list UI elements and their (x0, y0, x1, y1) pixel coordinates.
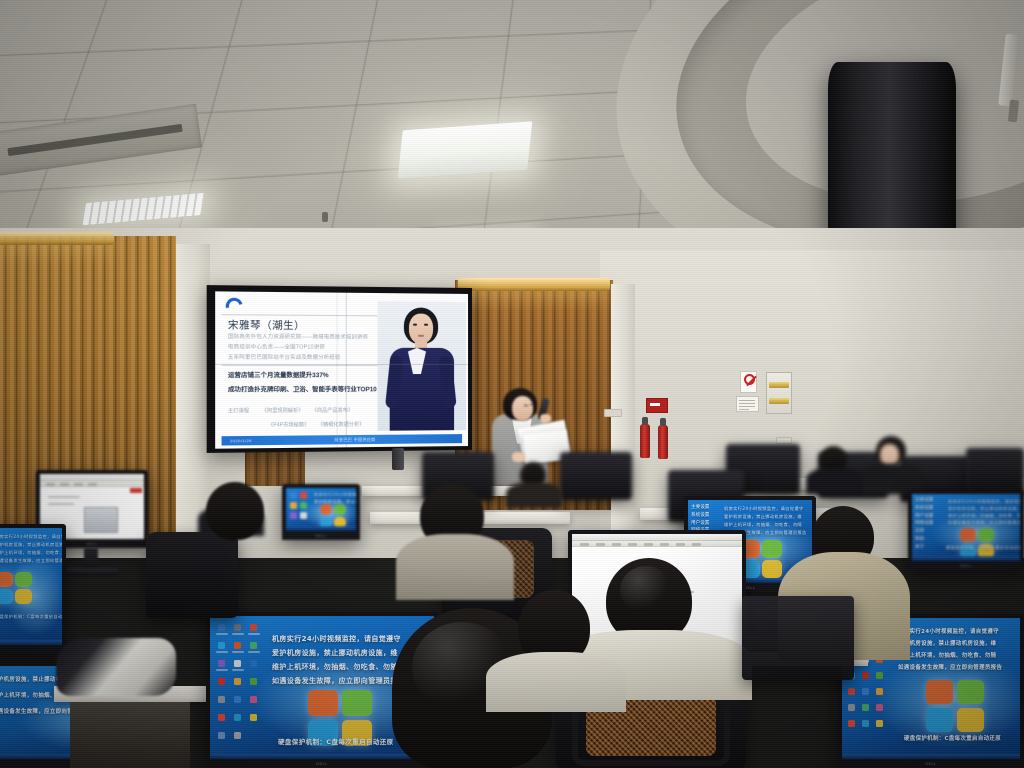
attendee-shoulders (806, 468, 862, 494)
side-menu-item: 网络设置 (915, 520, 933, 528)
side-menu-item: 系统设置 (915, 505, 933, 513)
desktop-notice-line: 爱护机房设施，禁止挪动机房设施，维 (724, 514, 802, 521)
slide-course: 《精细化数据分析》 (318, 421, 364, 428)
ceiling-sprinkler (322, 212, 328, 222)
gold-plaque (766, 372, 792, 414)
slide-footer-date: 2020/1/29 (230, 438, 252, 443)
side-menu-item: 主要设置 (691, 504, 709, 512)
ceiling-light-panel-1 (398, 121, 533, 179)
desktop-notice-line: 机房实行24小时视频监控，请自觉遵守 (948, 499, 1020, 506)
slide-course: 《P4P市场秘籍》 (268, 421, 309, 428)
slide-bullet: 五年阿里巴巴国际站平台实战及数据分析经验 (228, 354, 341, 361)
desktop-notice-line: 机房实行24小时视频监控，请自觉遵守 (0, 534, 62, 541)
desktop-notice-line: 爱护机房设施，禁止挪动机房设施，维 (898, 640, 996, 648)
desktop-notice-line: 爱护机房设施，禁止挪动机房设施，维 (948, 506, 1020, 513)
hair-highlight (620, 566, 672, 614)
win7-desktop: 机房实行24小时视频监控，请自觉遵守 爱护机房设施，禁止挪动机房设施，维 (286, 488, 356, 531)
monitor-brand-label: DELL (315, 533, 327, 538)
presentation-slide: 宋雅琴（潮生） 国际商务外包人力资源研究院——跨境电商技术培训讲师 电商培训中心… (215, 291, 468, 448)
desktop-notice-line: 如遇设备发生故障，应立即向管理员报告 (0, 558, 62, 565)
desktop-notice-line: 机房实行24小时视频监控，请自觉遵守 (898, 628, 999, 636)
monitor-brand-label: DELL (960, 563, 972, 568)
monitor-brand-label: DELL (86, 541, 98, 546)
side-menu-item: 主要设置 (915, 497, 933, 505)
slide-bullet: 国际商务外包人力资源研究院——跨境电商技术培训讲师 (228, 333, 368, 341)
desktop-notice-line: 机房实行24小时视频监控，请自觉遵守 (272, 634, 401, 645)
desktop-notice-line: 爱护机房设施，禁止挪动机房设施，维 (314, 499, 356, 506)
desktop-notice-line: 机房实行24小时视频监控，请自觉遵守 (314, 492, 356, 499)
attendee-shoulders (506, 482, 562, 508)
slide-courses-label: 主打课程 (228, 407, 249, 414)
attendee-shoulders (396, 534, 514, 600)
screen-mount-bracket (392, 448, 404, 470)
slide-bullet: 电商培训中心负责——全国TOP10讲师 (228, 343, 325, 350)
presenter-face (512, 396, 533, 421)
desktop-notice-line: 如遇设备发生故障，应立即向管理员报告 (948, 520, 1020, 527)
attendee-head (206, 482, 264, 540)
presenter-hand (540, 414, 551, 423)
wall-notice-board (736, 396, 759, 412)
desktop-notice-line: 维护上机环境，勿抽烟、勿吃食、勿随 (948, 513, 1020, 520)
win7-desktop: 机房实行24小时视频监控，请自觉遵守 爱护机房设施，禁止挪动机房设施，维 维护上… (0, 528, 62, 645)
attendee-shoulders (486, 652, 626, 712)
no-smoking-sign (740, 371, 757, 393)
desktop-bottom-notice: 硬盘保护机制：C盘每次重启自动还原 (904, 735, 1001, 743)
desktop-bottom-notice: 硬盘保护机制：C盘每次重启自动还原 (946, 545, 1020, 552)
draped-jacket (56, 638, 176, 696)
slide-title: 宋雅琴（潮生） (228, 316, 305, 332)
monitor-brand-label: DELL (316, 761, 328, 766)
side-menu-item: 还原 (915, 528, 933, 536)
desktop-notice-line: 爱护机房设施，禁止挪动机房设施，维 (0, 542, 62, 549)
side-menu-item: 用户设置 (691, 520, 709, 528)
desktop-notice-line: 如遇设备发生故障，应立即向管理员报告 (898, 664, 1002, 672)
side-menu-item: 用户设置 (915, 513, 933, 521)
monitor-base (66, 568, 118, 576)
cove-light-strip (0, 232, 114, 245)
desk-cabinet (70, 702, 190, 768)
fire-extinguisher (640, 424, 650, 458)
slide-footer: 2020/1/29 阿里巴巴 中国供应商 (222, 434, 463, 445)
monitor: 机房实行24小时视频监控，请自觉遵守 爱护机房设施，禁止挪动机房设施，维 DEL… (282, 484, 360, 540)
desktop-bottom-notice: 硬盘保护机制：C盘每次重启自动还原 (278, 737, 394, 747)
projection-screen: 宋雅琴（潮生） 国际商务外包人力资源研究院——跨境电商技术培训讲师 电商培训中心… (207, 285, 472, 453)
fire-extinguisher-sign (646, 398, 668, 413)
monitor-rear (742, 596, 854, 680)
side-menu-item: 系统设置 (691, 512, 709, 520)
slide-highlight: 运营店铺三个月流量数据提升337% (228, 370, 329, 379)
presenter-hand (512, 452, 525, 462)
attendee-face (880, 444, 899, 466)
side-menu-item: 帮助 (915, 536, 933, 544)
office-chair (146, 532, 238, 618)
desktop-notice-line: 维护上机环境，勿抽烟、勿吃食、勿随 (898, 652, 996, 660)
wall-power-outlet (604, 409, 622, 417)
classroom-photo: 宋雅琴（潮生） 国际商务外包人力资源研究院——跨境电商技术培训讲师 电商培训中心… (0, 0, 1024, 768)
fire-extinguisher (658, 425, 668, 459)
desktop-notice-line: 维护上机环境，勿抽烟、勿吃食、勿随 (0, 550, 62, 557)
monitor-rear (560, 452, 632, 500)
slide-course: 《阿里规则解析》 (262, 407, 304, 414)
desktop-notice-line: 爱护机房设施，禁止挪动机房设施，维 (272, 648, 398, 659)
desktop-notice-line: 维护上机环境，勿抽烟、勿吃食、勿随 (272, 662, 398, 673)
monitor: 机房实行24小时视频监控，请自觉遵守 爱护机房设施，禁止挪动机房设施，维 维护上… (0, 524, 66, 654)
cove-light-strip (458, 278, 610, 291)
desktop-bottom-notice: 硬盘保护机制：C盘每次重启自动还原 (0, 614, 62, 621)
desktop-side-menu: 主要设置 系统设置 用户设置 网络设置 还原 帮助 关于 (915, 497, 933, 552)
desktop-notice-line: 维护上机环境，勿抽烟、勿吃食、勿随 (724, 522, 802, 529)
win7-desktop: 主要设置 系统设置 用户设置 网络设置 还原 帮助 关于 机房实行24小时视频监… (912, 494, 1020, 561)
speaker-portrait-photo (377, 301, 466, 431)
desktop-notice-line: 如遇设备发生故障，应立即向管理员报告 (272, 676, 405, 687)
desktop-notice-line: 机房实行24小时视频监控，请自觉遵守 (724, 506, 804, 513)
wall-power-outlet (776, 437, 792, 444)
monitor: 主要设置 系统设置 用户设置 网络设置 还原 帮助 关于 机房实行24小时视频监… (908, 490, 1024, 570)
side-menu-item: 关于 (915, 544, 933, 552)
slide-highlight: 成功打造扑克牌印刷、卫浴、智能手表等行业TOP10 (228, 384, 377, 394)
monitor-brand-label: DELL (925, 761, 937, 766)
slide-footer-brand: 阿里巴巴 中国供应商 (334, 437, 375, 443)
monitor-rear (966, 448, 1024, 496)
monitor-stand (84, 548, 98, 570)
wall-pillar (176, 244, 210, 536)
